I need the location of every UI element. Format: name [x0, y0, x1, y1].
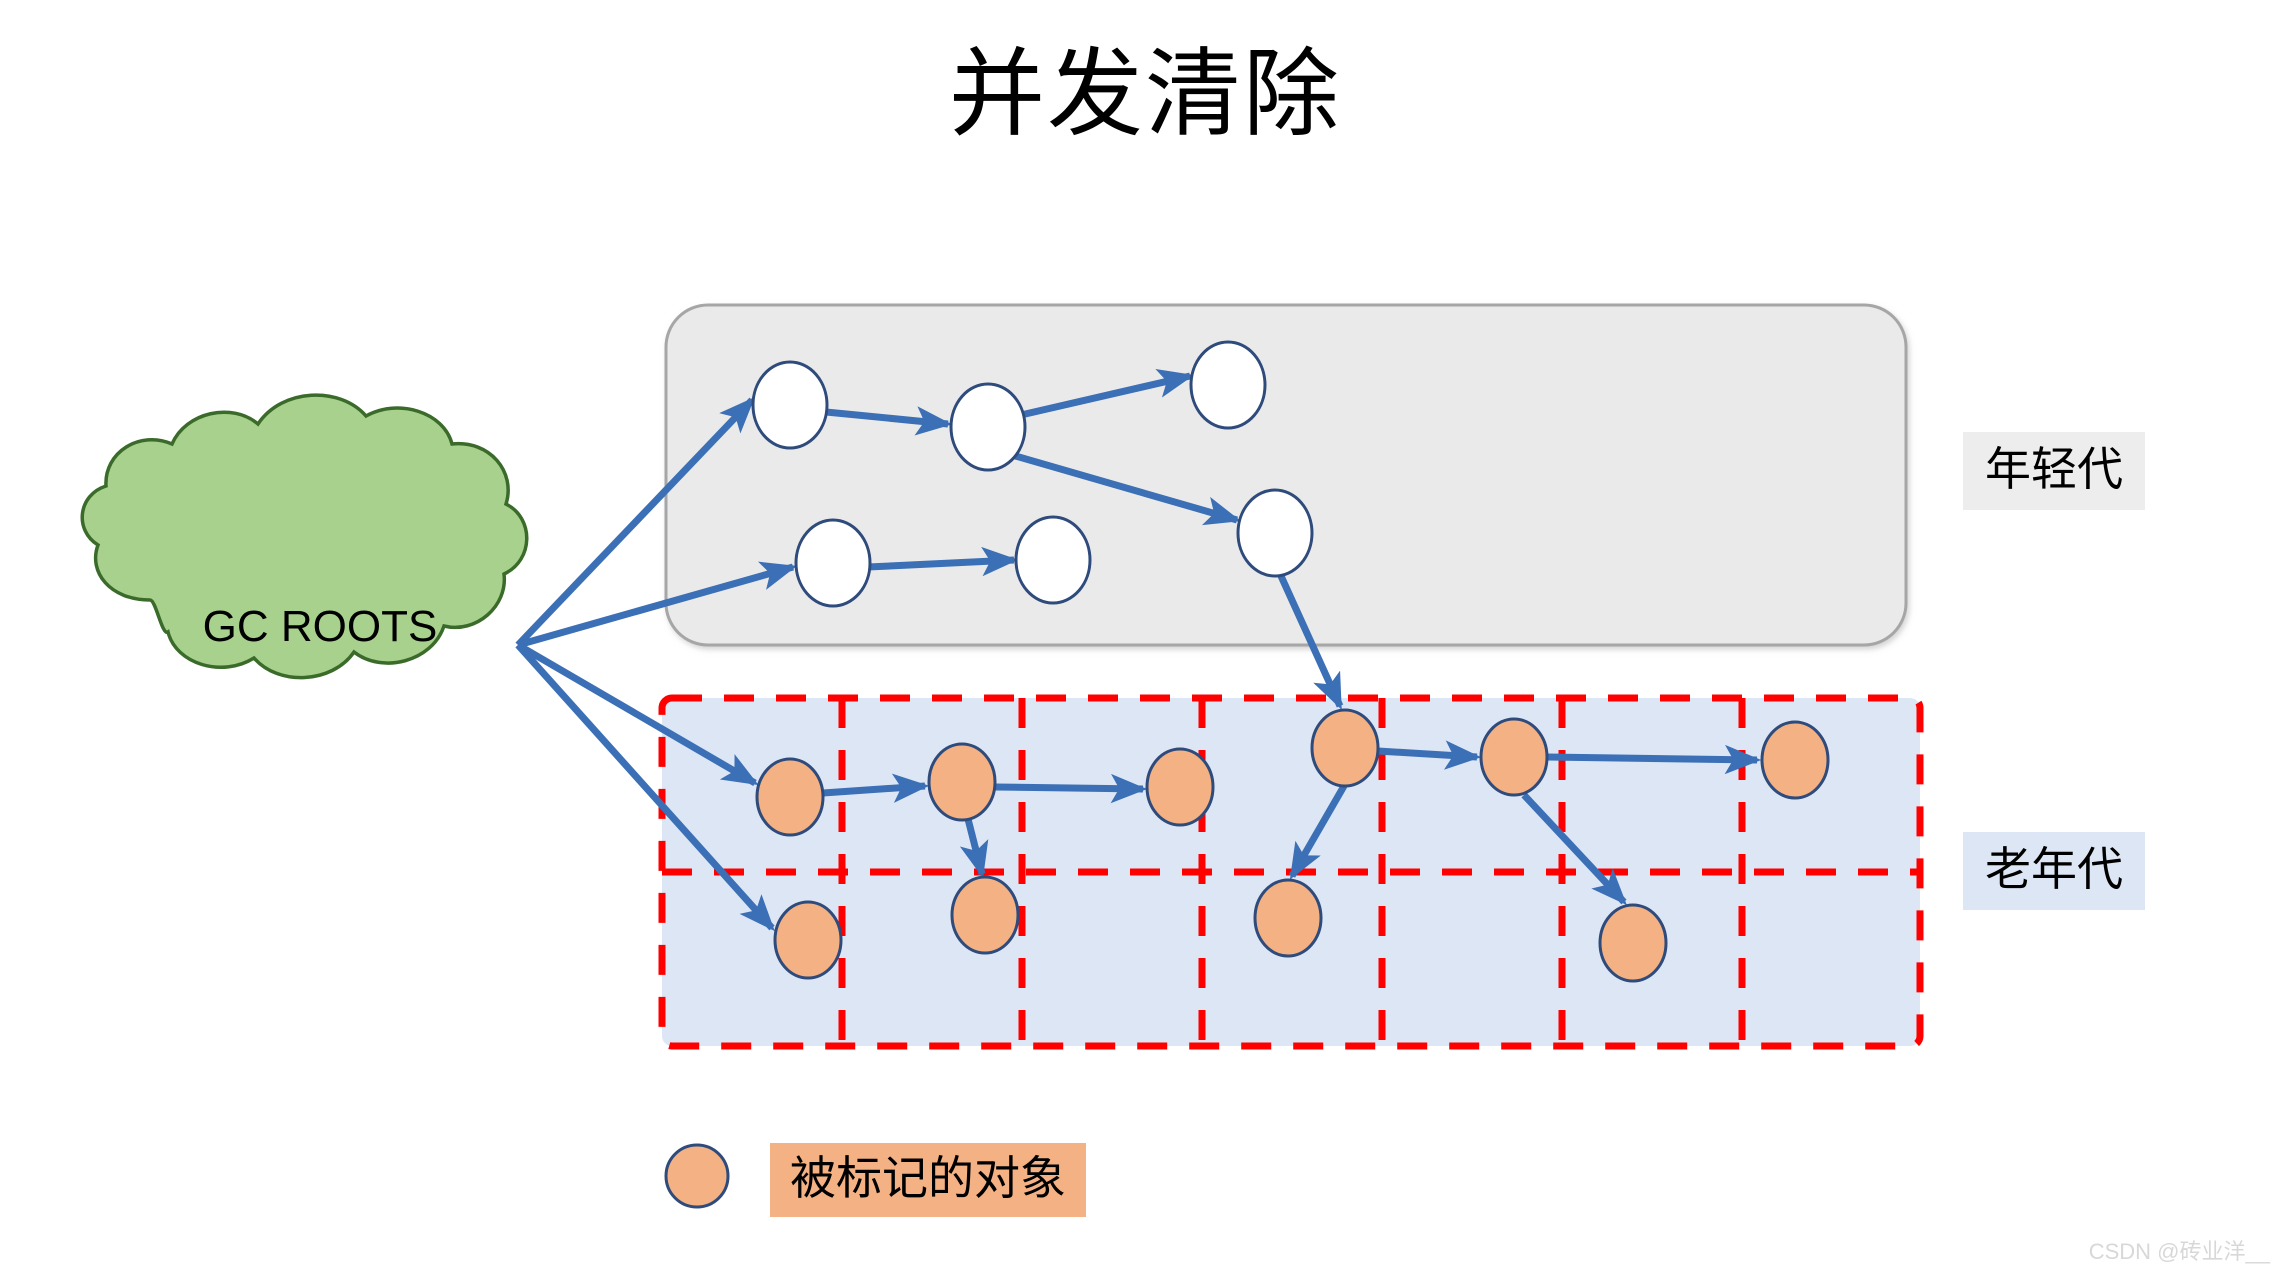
young-node[interactable] [796, 520, 870, 606]
young-generation-label: 年轻代 [1963, 432, 2145, 510]
old-node-marked[interactable] [775, 902, 841, 978]
gc-roots-label: GC ROOTS [120, 605, 520, 649]
legend-marked-object-label: 被标记的对象 [770, 1143, 1086, 1217]
young-node[interactable] [1238, 490, 1312, 576]
old-node-marked[interactable] [1147, 749, 1213, 825]
watermark: CSDN @砖业洋__ [2089, 1234, 2270, 1266]
young-node[interactable] [1191, 342, 1265, 428]
slide-canvas: 并发清除 [0, 0, 2290, 1280]
young-node[interactable] [951, 384, 1025, 470]
old-node-marked[interactable] [1255, 880, 1321, 956]
young-node[interactable] [1016, 517, 1090, 603]
old-node-marked[interactable] [1600, 905, 1666, 981]
young-node[interactable] [753, 362, 827, 448]
edge-o5-to-o6 [1547, 757, 1757, 760]
old-node-marked[interactable] [929, 744, 995, 820]
old-node-marked[interactable] [952, 877, 1018, 953]
old-node-marked[interactable] [757, 759, 823, 835]
legend [666, 1145, 728, 1207]
legend-marked-object-icon [666, 1145, 728, 1207]
old-generation-label: 老年代 [1963, 832, 2145, 910]
old-node-marked[interactable] [1312, 710, 1378, 786]
old-node-marked[interactable] [1481, 719, 1547, 795]
edge-o2-to-o3 [995, 787, 1143, 789]
old-node-marked[interactable] [1762, 722, 1828, 798]
